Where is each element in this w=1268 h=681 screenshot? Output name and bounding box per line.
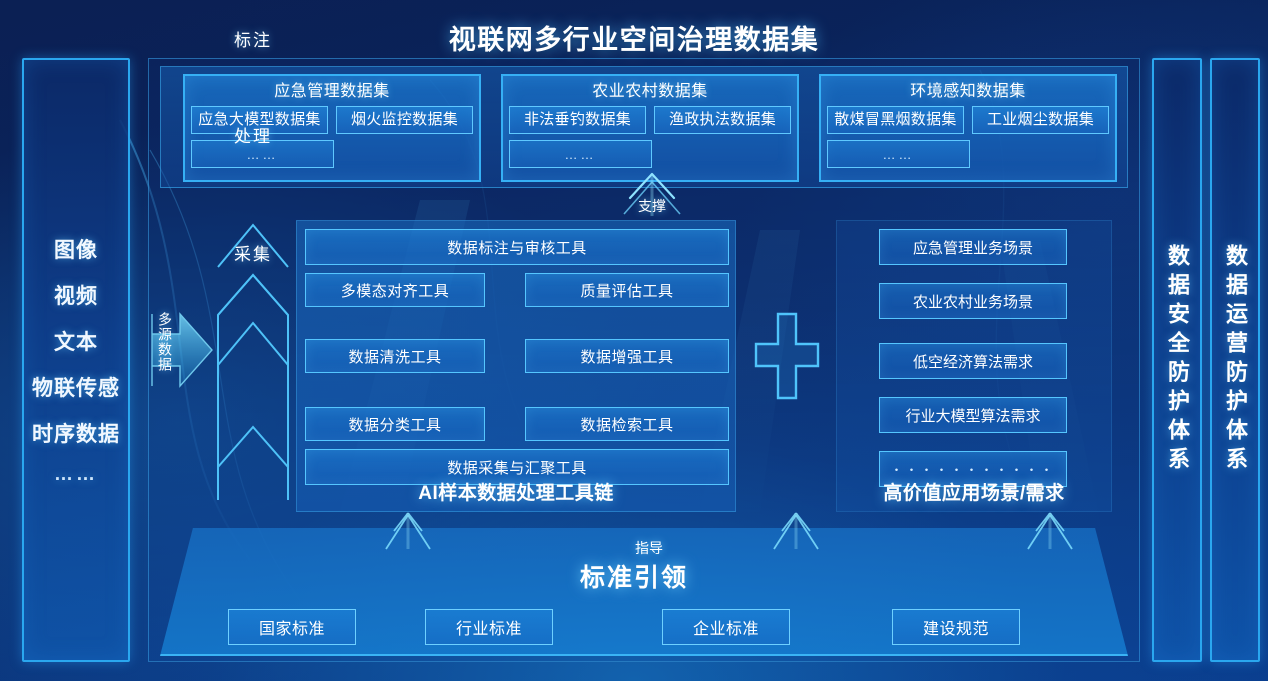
- tool-quality-assessment[interactable]: 质量评估工具: [525, 273, 729, 307]
- source-item-image: 图像: [54, 234, 98, 264]
- standards-title: 标准引领: [0, 558, 1268, 594]
- tool-data-augmentation[interactable]: 数据增强工具: [525, 339, 729, 373]
- stage-label-processing: 处理: [212, 122, 294, 147]
- standard-national[interactable]: 国家标准: [228, 609, 356, 645]
- data-operations-label: 数据运营防护体系: [1219, 244, 1251, 476]
- dataset-chip[interactable]: 烟火监控数据集: [336, 106, 473, 134]
- source-item-timeseries: 时序数据: [32, 418, 120, 448]
- dataset-chip[interactable]: 工业烟尘数据集: [972, 106, 1109, 134]
- dataset-group-environment[interactable]: 环境感知数据集 散煤冒黑烟数据集 工业烟尘数据集 ……: [819, 74, 1117, 182]
- dataset-more[interactable]: ……: [509, 140, 652, 168]
- scenario-caption: 高价值应用场景/需求: [836, 478, 1112, 505]
- tool-multimodal-alignment[interactable]: 多模态对齐工具: [305, 273, 485, 307]
- page-title: 视联网多行业空间治理数据集: [0, 18, 1268, 57]
- guide-label: 指导: [594, 538, 704, 558]
- toolchain-panel: 数据标注与审核工具 多模态对齐工具 质量评估工具 数据清洗工具 数据增强工具 数…: [296, 220, 736, 512]
- scenario-emergency-management[interactable]: 应急管理业务场景: [879, 229, 1067, 265]
- scenario-agriculture-rural[interactable]: 农业农村业务场景: [879, 283, 1067, 319]
- source-item-iot-sensing: 物联传感: [32, 372, 120, 402]
- data-security-label: 数据安全防护体系: [1161, 244, 1193, 476]
- tool-data-retrieval[interactable]: 数据检索工具: [525, 407, 729, 441]
- dataset-chip[interactable]: 非法垂钓数据集: [509, 106, 646, 134]
- dataset-chip-row: 非法垂钓数据集 渔政执法数据集: [509, 106, 791, 134]
- standard-industry[interactable]: 行业标准: [425, 609, 553, 645]
- source-item-video: 视频: [54, 280, 98, 310]
- dataset-chip[interactable]: 散煤冒黑烟数据集: [827, 106, 964, 134]
- dataset-group-title: 应急管理数据集: [191, 80, 473, 104]
- support-label: 支撑: [612, 196, 692, 216]
- dataset-group-title: 环境感知数据集: [827, 80, 1109, 104]
- standard-enterprise[interactable]: 企业标准: [662, 609, 790, 645]
- stage-label-annotation: 标注: [212, 26, 294, 51]
- scenario-panel: 应急管理业务场景 农业农村业务场景 低空经济算法需求 行业大模型算法需求 ・・・…: [836, 220, 1112, 512]
- dataset-chip-row: 散煤冒黑烟数据集 工业烟尘数据集: [827, 106, 1109, 134]
- toolchain-caption: AI样本数据处理工具链: [296, 478, 736, 505]
- tool-annotation-review[interactable]: 数据标注与审核工具: [305, 229, 729, 265]
- dataset-band: 应急管理数据集 应急大模型数据集 烟火监控数据集 …… 农业农村数据集 非法垂钓…: [160, 66, 1128, 188]
- dataset-group-title: 农业农村数据集: [509, 80, 791, 104]
- scenario-industry-large-model[interactable]: 行业大模型算法需求: [879, 397, 1067, 433]
- dataset-more[interactable]: ……: [827, 140, 970, 168]
- source-item-more: ……: [54, 464, 98, 486]
- diagram-canvas: 视联网多行业空间治理数据集 图像 视频 文本 物联传感 时序数据 …… 数据安全…: [0, 0, 1268, 681]
- stage-label-collection: 采集: [212, 240, 294, 265]
- source-item-text: 文本: [54, 326, 98, 356]
- multisource-label: 多源数据: [150, 312, 174, 392]
- plus-icon: [752, 310, 822, 402]
- standard-construction-spec[interactable]: 建设规范: [892, 609, 1020, 645]
- scenario-low-altitude-economy[interactable]: 低空经济算法需求: [879, 343, 1067, 379]
- tool-data-cleaning[interactable]: 数据清洗工具: [305, 339, 485, 373]
- tool-data-classification[interactable]: 数据分类工具: [305, 407, 485, 441]
- dataset-chip[interactable]: 渔政执法数据集: [654, 106, 791, 134]
- dataset-group-agriculture[interactable]: 农业农村数据集 非法垂钓数据集 渔政执法数据集 ……: [501, 74, 799, 182]
